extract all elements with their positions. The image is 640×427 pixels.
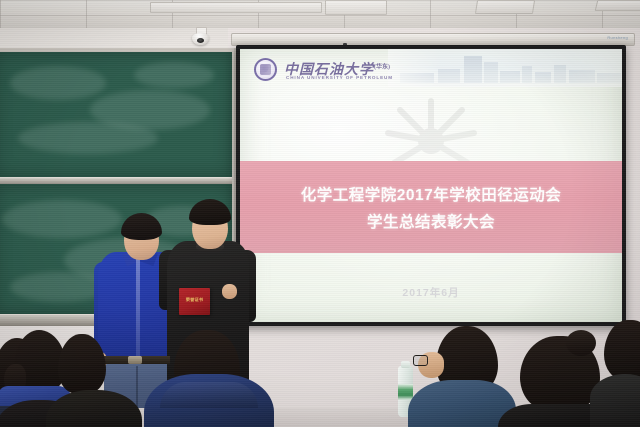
campus-skyline-banner-icon (388, 49, 622, 87)
slide-title-band: 化学工程学院2017年学校田径运动会 学生总结表彰大会 (240, 161, 622, 253)
audience-shoulders-7 (590, 374, 640, 427)
water-bottle-label (398, 384, 413, 400)
presenter-black-sweater-hand (222, 284, 237, 299)
ceiling-duct-far-right (595, 0, 640, 11)
eyeglasses-icon (413, 355, 428, 366)
ceiling-duct-center (325, 0, 387, 15)
audience-head-3 (58, 334, 106, 394)
university-name-cn-suffix: (华东) (374, 64, 390, 70)
university-name-en: CHINA UNIVERSITY OF PETROLEUM (286, 75, 393, 80)
slide-title-line-2: 学生总结表彰大会 (367, 210, 495, 232)
presentation-slide: 中国石油大学(华东) CHINA UNIVERSITY OF PETROLEUM (240, 49, 622, 322)
classroom-photo: Runsheng (0, 0, 640, 427)
projector-screen: 中国石油大学(华东) CHINA UNIVERSITY OF PETROLEUM (236, 45, 626, 326)
slide-header: 中国石油大学(华东) CHINA UNIVERSITY OF PETROLEUM (240, 49, 622, 87)
camera-lens-icon (197, 38, 204, 43)
university-seal-icon (254, 58, 277, 81)
award-certificate: 荣誉证书 (179, 288, 210, 315)
presenter-blue-shirt-placket (136, 258, 140, 358)
ceiling-duct-right (475, 0, 535, 14)
presenter-blue-shirt-belt-buckle (128, 356, 142, 364)
slide-title-line-1: 化学工程学院2017年学校田径运动会 (301, 183, 561, 205)
ceiling-duct-left (150, 2, 322, 13)
water-bottle-cap (401, 361, 410, 368)
audience-hood-fold-4 (160, 382, 258, 408)
chalkboard-panel-upper (0, 52, 232, 177)
audience-hair-bun-6 (566, 330, 596, 356)
award-certificate-text: 荣誉证书 (179, 297, 210, 303)
roller-brand-label: Runsheng (607, 35, 628, 40)
slide-date: 2017年6月 (402, 285, 459, 300)
